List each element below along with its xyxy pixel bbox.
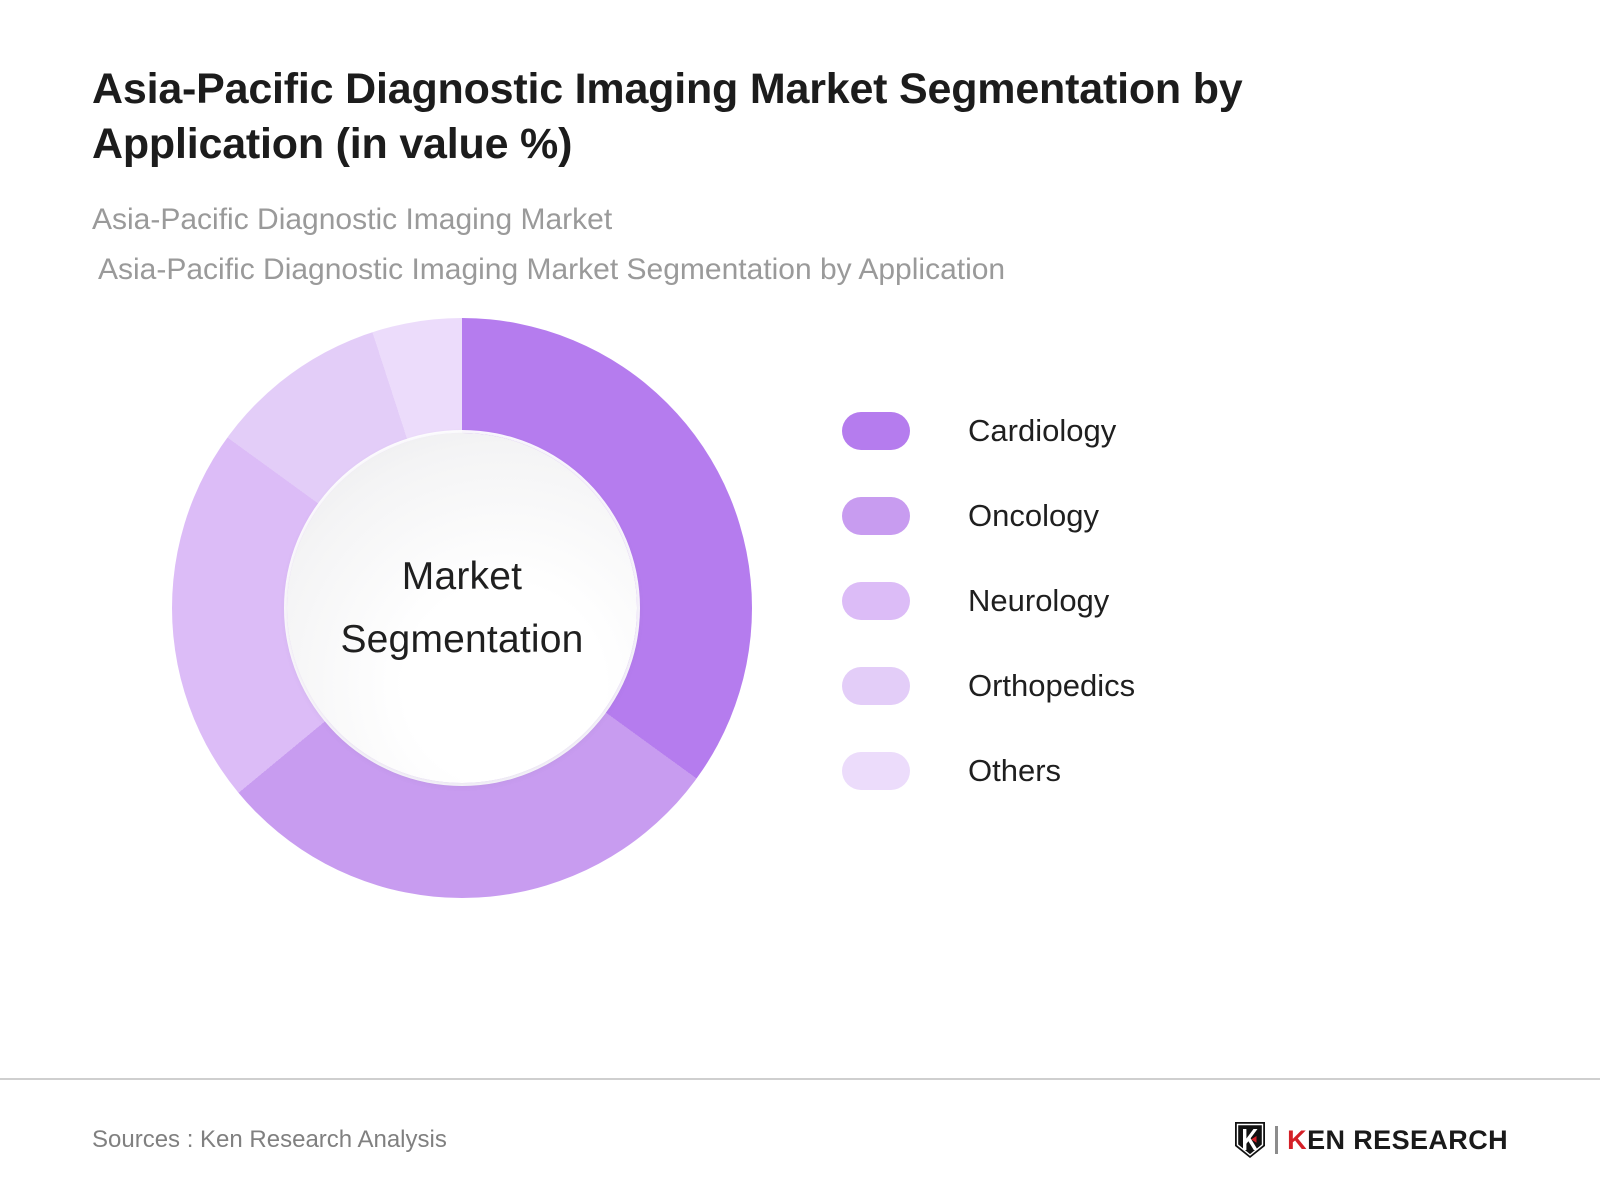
logo-wordmark-accent: K: [1287, 1125, 1307, 1156]
subtitle-segmentation: Asia-Pacific Diagnostic Imaging Market S…: [92, 248, 1510, 292]
legend-swatch: [842, 752, 910, 790]
legend-item-label: Orthopedics: [968, 668, 1135, 704]
subtitle-group: Asia-Pacific Diagnostic Imaging Market A…: [92, 198, 1510, 291]
logo-wordmark-rest: EN RESEARCH: [1307, 1125, 1508, 1156]
header: Asia-Pacific Diagnostic Imaging Market S…: [0, 0, 1600, 291]
legend-item[interactable]: Oncology: [842, 473, 1135, 558]
legend-item-label: Oncology: [968, 498, 1099, 534]
chart-body: Market Segmentation CardiologyOncologyNe…: [0, 291, 1600, 1078]
legend-item-label: Neurology: [968, 583, 1109, 619]
footer: Sources : Ken Research Analysis KEN RESE…: [0, 1078, 1600, 1200]
logo-wordmark: KEN RESEARCH: [1287, 1125, 1508, 1156]
legend-swatch: [842, 582, 910, 620]
legend-item[interactable]: Cardiology: [842, 388, 1135, 473]
source-note: Sources : Ken Research Analysis: [92, 1126, 447, 1154]
slide-root: Asia-Pacific Diagnostic Imaging Market S…: [0, 0, 1600, 1200]
legend-swatch: [842, 497, 910, 535]
donut-center-hole: Market Segmentation: [287, 433, 637, 783]
logo-divider: [1275, 1126, 1278, 1154]
ken-research-logo: KEN RESEARCH: [1234, 1121, 1508, 1159]
legend-item[interactable]: Orthopedics: [842, 643, 1135, 728]
legend-item-label: Cardiology: [968, 413, 1116, 449]
legend-swatch: [842, 667, 910, 705]
legend-item-label: Others: [968, 753, 1061, 789]
donut-chart: Market Segmentation: [172, 318, 752, 898]
shield-k-icon: [1234, 1121, 1266, 1159]
chart-legend: CardiologyOncologyNeurologyOrthopedicsOt…: [842, 388, 1135, 813]
page-title: Asia-Pacific Diagnostic Imaging Market S…: [92, 62, 1482, 172]
legend-item[interactable]: Neurology: [842, 558, 1135, 643]
donut-center-label: Market Segmentation: [340, 545, 583, 671]
subtitle-market: Asia-Pacific Diagnostic Imaging Market: [92, 198, 1510, 242]
donut-center-line-2: Segmentation: [340, 608, 583, 671]
legend-swatch: [842, 412, 910, 450]
donut-center-line-1: Market: [340, 545, 583, 608]
legend-item[interactable]: Others: [842, 728, 1135, 813]
